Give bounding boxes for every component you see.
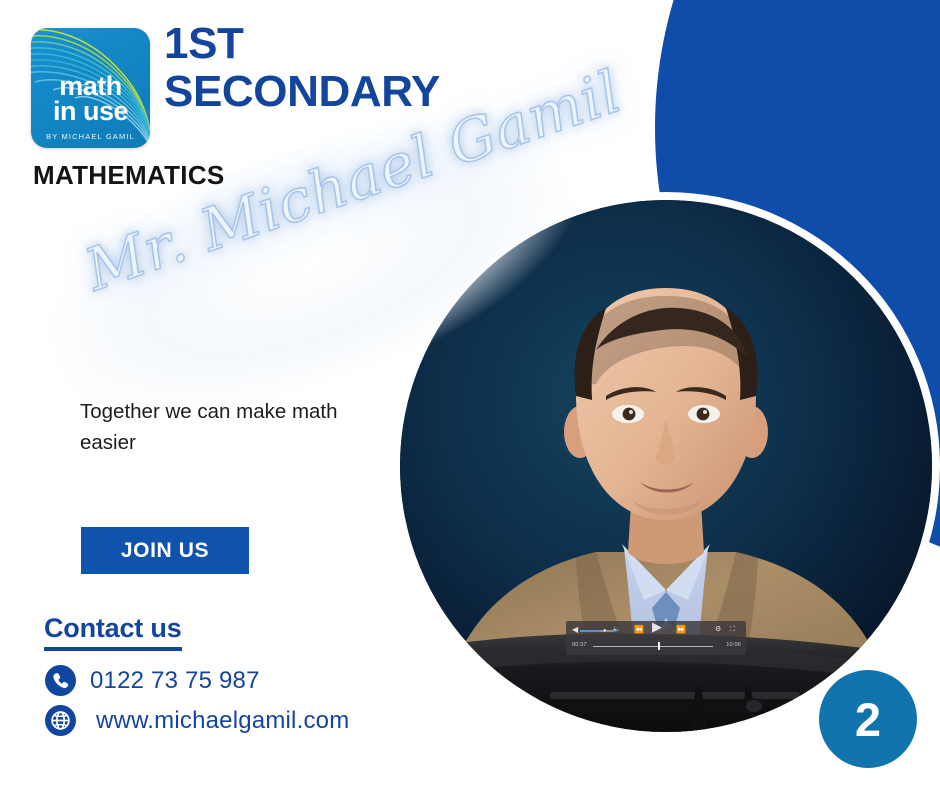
subject-label: MATHEMATICS xyxy=(33,160,225,191)
website-url: www.michaelgamil.com xyxy=(96,707,349,735)
rewind-icon[interactable]: ⏪ xyxy=(634,626,644,634)
globe-icon xyxy=(45,705,76,736)
video-time-total: 10:06 xyxy=(726,642,741,648)
title-line-2: SECONDARY xyxy=(164,68,440,116)
page-title: 1ST SECONDARY xyxy=(164,20,440,116)
video-seek-handle[interactable] xyxy=(658,642,660,650)
brand-logo[interactable]: math in use BY MICHAEL GAMIL xyxy=(31,28,150,148)
video-seek-track[interactable] xyxy=(593,646,713,647)
video-time-current: 00:37 xyxy=(572,642,587,648)
play-icon[interactable]: ▶ xyxy=(652,623,662,631)
contact-website-row[interactable]: www.michaelgamil.com xyxy=(45,705,349,736)
settings-icon[interactable]: ⚙ xyxy=(715,626,721,634)
volume-icon[interactable]: 🔈 xyxy=(612,626,621,634)
volume-knob-icon[interactable]: ● xyxy=(603,627,607,635)
contact-phone-row[interactable]: 0122 73 75 987 xyxy=(45,665,260,696)
logo-line-2: in use xyxy=(31,99,150,124)
tagline: Together we can make math easier xyxy=(80,396,370,458)
phone-number: 0122 73 75 987 xyxy=(90,667,260,695)
page-number-badge: 2 xyxy=(819,670,917,768)
title-line-1: 1ST xyxy=(164,20,440,68)
fullscreen-icon[interactable]: ⛶ xyxy=(730,626,735,634)
video-progress-row: 00:37 10:06 xyxy=(566,640,746,653)
video-controls-overlay[interactable]: ◀ ● 🔈 ⏪ ▶ ⏩ ⚙ ⛶ 00:37 10:06 xyxy=(566,621,746,655)
prev-icon[interactable]: ◀ xyxy=(572,626,578,634)
phone-icon xyxy=(45,665,76,696)
join-us-button[interactable]: JOIN US xyxy=(81,527,249,574)
video-controls-top-row: ◀ ● 🔈 ⏪ ▶ ⏩ ⚙ ⛶ xyxy=(566,621,746,640)
logo-wordmark: math in use BY MICHAEL GAMIL xyxy=(31,74,150,141)
logo-byline: BY MICHAEL GAMIL xyxy=(31,132,150,141)
fast-forward-icon[interactable]: ⏩ xyxy=(676,626,686,634)
poster-canvas: math in use BY MICHAEL GAMIL 1ST SECONDA… xyxy=(0,0,940,788)
contact-heading: Contact us xyxy=(44,613,182,651)
volume-slider-fill xyxy=(580,630,600,632)
